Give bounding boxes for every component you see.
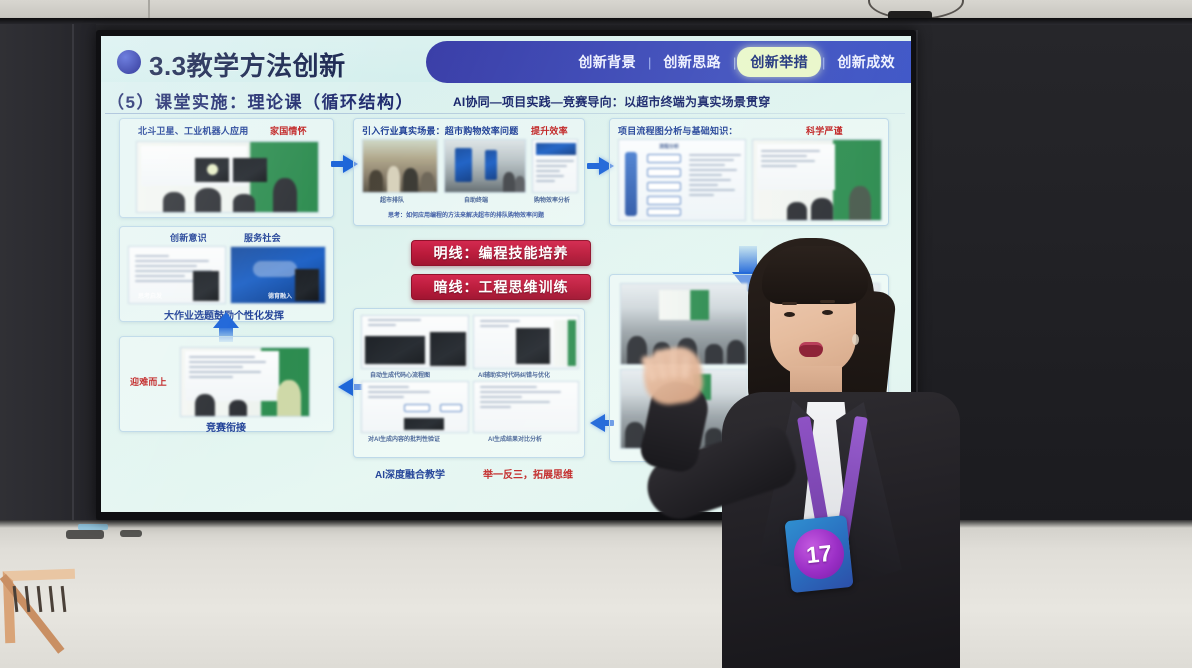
tab-innovation-background[interactable]: 创新背景 <box>567 48 647 76</box>
presenter-mouth <box>799 342 823 357</box>
subtitle-secondary: AI协同—项目实践—竞赛导向：以超市终端为真实场景贯穿 <box>453 93 770 110</box>
panel-2-title: 引入行业真实场景：超市购物效率问题 <box>362 124 518 137</box>
panel-ai-integrated-teaching[interactable]: 自动生成代码心流程图 AI辅助实时代码纠错与优化 对AI生成内容的批判性验证 A… <box>353 308 585 458</box>
panel-3-photo-flowchart: 流程分析 <box>618 139 746 221</box>
panel-2-mini-caption-1: 超市排队 <box>380 195 404 204</box>
panel-5-tag-left: 迎难而上 <box>130 375 167 388</box>
blackboard-top-edge <box>0 18 1192 25</box>
panel-2-photo-checkout-queue <box>362 139 438 193</box>
panel-2-tag: 提升效率 <box>531 124 568 137</box>
panel-1-title: 北斗卫星、工业机器人应用 <box>138 124 248 137</box>
presenter-badge: 17 <box>784 515 853 593</box>
lower-wall <box>0 520 1192 668</box>
page-title: 3.3教学方法创新 <box>149 46 346 83</box>
blackboard-left-panel <box>0 24 96 522</box>
panel-3-tag: 科学严谨 <box>806 124 843 137</box>
presenter: 17 <box>630 230 960 668</box>
small-object-on-ledge <box>120 530 142 537</box>
tab-innovation-approach[interactable]: 创新思路 <box>652 48 732 76</box>
blackboard-seam-left <box>72 24 74 522</box>
panel-6-photo-ai-debug <box>473 315 579 369</box>
subtitle-primary: （5）课堂实施：理论课（循环结构） <box>107 88 414 113</box>
panel-5-photo-lecture <box>180 347 310 417</box>
presenter-badge-number: 17 <box>805 539 833 569</box>
wooden-fixture-teeth <box>12 586 72 620</box>
panel-6-photo-code-gen <box>361 315 469 369</box>
panel-innovation-service[interactable]: 创新意识 服务社会 思考启发 德育融入 大作业选题鼓励个性化发挥 <box>119 226 334 322</box>
panel-2-photo-self-terminal <box>444 139 526 193</box>
panel-3-photo-teaching <box>752 139 882 221</box>
presenter-eye-left <box>784 312 795 317</box>
panel-5-caption: 竞赛衔接 <box>206 419 246 434</box>
panel-6-caption-left: AI深度融合教学 <box>375 466 445 481</box>
presenter-brow-left <box>782 302 797 305</box>
panel-2-mini-caption-2: 自助终端 <box>464 195 488 204</box>
presenter-brow-right <box>820 300 835 303</box>
panel-6-mini-caption-4: AI生成结果对比分析 <box>488 434 542 443</box>
banner-explicit-line: 明线：编程技能培养 <box>411 240 591 266</box>
panel-6-photo-validation <box>361 381 469 433</box>
panel-4-mini-caption-1: 思考启发 <box>138 291 162 300</box>
banner-explicit-line-text: 明线：编程技能培养 <box>434 243 569 263</box>
slide-header: 3.3教学方法创新 创新背景 | 创新思路 | 创新举措 | 创新成效 <box>101 36 911 88</box>
presenter-eye-right <box>822 310 833 315</box>
panel-3-title: 项目流程图分析与基础知识： <box>618 124 738 137</box>
panel-6-mini-caption-1: 自动生成代码心流程图 <box>370 370 430 379</box>
panel-flowchart-basics[interactable]: 项目流程图分析与基础知识： 科学严谨 流程分析 <box>609 118 889 226</box>
panel-1-tag: 家国情怀 <box>270 124 307 137</box>
slide-subtitle-row: （5）课堂实施：理论课（循环结构） AI协同—项目实践—竞赛导向：以超市终端为真… <box>101 87 911 113</box>
banner-implicit-line-text: 暗线：工程思维训练 <box>434 277 569 297</box>
panel-6-photo-comparison <box>473 381 579 433</box>
board-ledge-shadow <box>0 520 1192 528</box>
panel-2-footer-note: 思考：如何应用编程的方法来解决超市的排队购物效率问题 <box>388 210 544 219</box>
presenter-earring <box>852 334 859 345</box>
blue-circle-bullet-icon <box>117 50 141 74</box>
panel-6-caption-right: 举一反三，拓展思维 <box>483 466 573 481</box>
panel-3-mini-caption: 流程分析 <box>659 143 679 150</box>
panel-competition-link[interactable]: 迎难而上 竞赛衔接 <box>119 336 334 432</box>
presenter-hair-front <box>762 246 868 304</box>
nav-tabs: 创新背景 | 创新思路 | 创新举措 | 创新成效 <box>451 41 906 83</box>
banner-implicit-line: 暗线：工程思维训练 <box>411 274 591 300</box>
panel-1-photo-classroom <box>136 141 319 213</box>
panel-2-mini-caption-3: 购物效率分析 <box>534 195 570 204</box>
tab-innovation-results[interactable]: 创新成效 <box>826 48 906 76</box>
classroom-scene: 3.3教学方法创新 创新背景 | 创新思路 | 创新举措 | 创新成效 （5）课… <box>0 0 1192 668</box>
panel-4-mini-caption-2: 德育融入 <box>268 291 292 300</box>
panel-4-tag-right: 服务社会 <box>244 231 281 244</box>
tab-innovation-measures[interactable]: 创新举措 <box>737 47 821 77</box>
eraser-on-ledge <box>66 530 104 539</box>
presenter-badge-circle: 17 <box>792 527 847 582</box>
panel-beidou-robot[interactable]: 北斗卫星、工业机器人应用 家国情怀 <box>119 118 334 218</box>
panel-supermarket-scenario[interactable]: 引入行业真实场景：超市购物效率问题 提升效率 <box>353 118 585 226</box>
panel-2-photo-efficiency-chart <box>532 139 578 193</box>
panel-4-tag-left: 创新意识 <box>170 231 207 244</box>
panel-6-mini-caption-2: AI辅助实时代码纠错与优化 <box>478 370 550 379</box>
panel-6-mini-caption-3: 对AI生成内容的批判性验证 <box>368 434 440 443</box>
